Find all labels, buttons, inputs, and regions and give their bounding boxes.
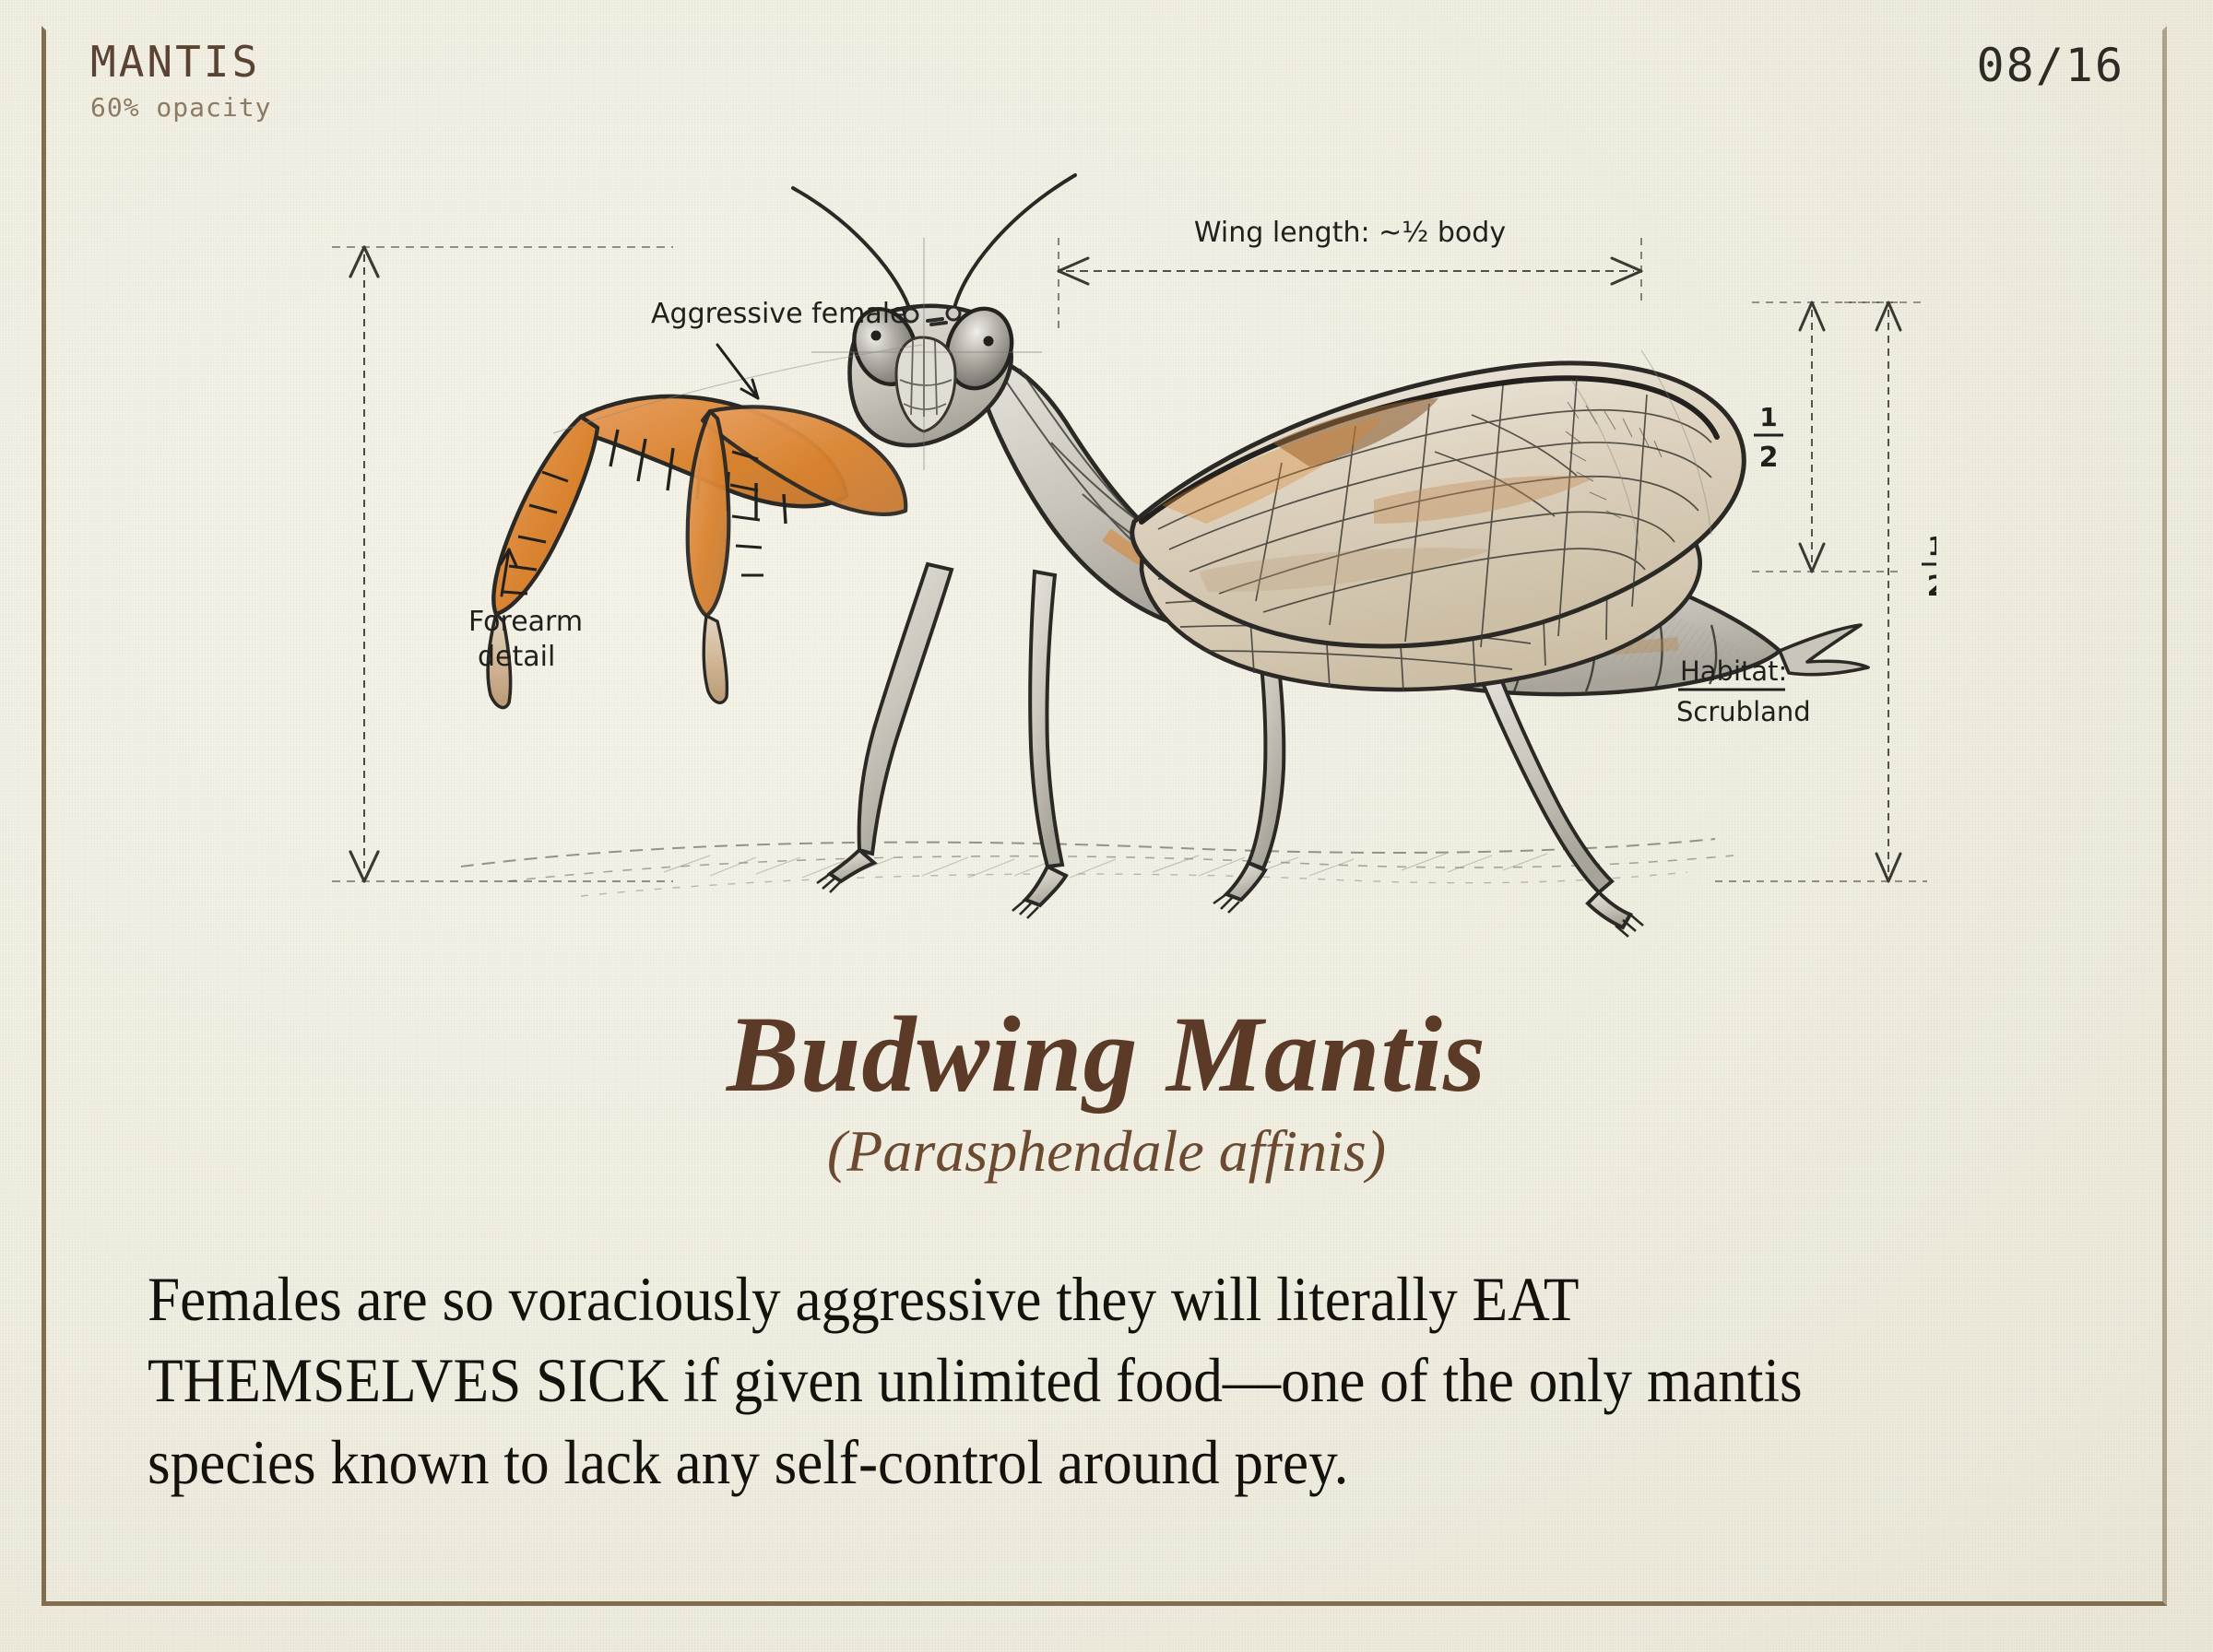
tarsal-claws <box>817 874 1643 937</box>
annotation-forearm-line2: detail <box>478 641 555 673</box>
common-name: Budwing Mantis <box>0 1000 2213 1109</box>
left-antenna <box>793 188 911 313</box>
svg-text:1: 1 <box>1759 402 1777 432</box>
fraction-upper: 1 2 <box>1754 402 1783 474</box>
svg-text:2: 2 <box>1927 571 1936 603</box>
fact-text: Females are so voraciously aggressive th… <box>148 1258 1940 1503</box>
title-block: Budwing Mantis (Parasphendale affinis) <box>0 1000 2213 1181</box>
mantis-body <box>488 175 1868 937</box>
aggressive-female-arrow <box>717 345 758 398</box>
fraction-lower: 1 2 <box>1922 531 1936 603</box>
annotation-habitat-label: Habitat: <box>1680 655 1787 687</box>
leg-1 <box>859 564 952 854</box>
scientific-name: (Parasphendale affinis) <box>0 1122 2213 1181</box>
svg-text:2: 2 <box>1759 442 1779 474</box>
annotation-aggressive-female: Aggressive female <box>651 298 907 330</box>
annotation-wing-length: Wing length: ~½ body <box>1194 217 1506 249</box>
right-antenna <box>953 175 1075 312</box>
mantis-sketch-svg: Wing length: ~½ body Aggressive female F… <box>277 138 1936 968</box>
header-label-group: MANTIS 60% opacity <box>90 41 271 123</box>
ground-shadow <box>461 839 1734 896</box>
leg-2 <box>1030 572 1062 867</box>
header-subtitle: 60% opacity <box>90 92 271 123</box>
annotation-habitat-value: Scrubland <box>1676 696 1811 727</box>
header-title: MANTIS <box>90 41 271 83</box>
raptorial-foreleg-back <box>688 407 906 702</box>
svg-text:1: 1 <box>1927 531 1936 561</box>
mantis-illustration: Wing length: ~½ body Aggressive female F… <box>277 138 1936 968</box>
annotation-forearm-line1: Forearm <box>468 606 583 638</box>
page-counter: 08/16 <box>1976 39 2124 92</box>
cerci <box>1780 625 1868 675</box>
